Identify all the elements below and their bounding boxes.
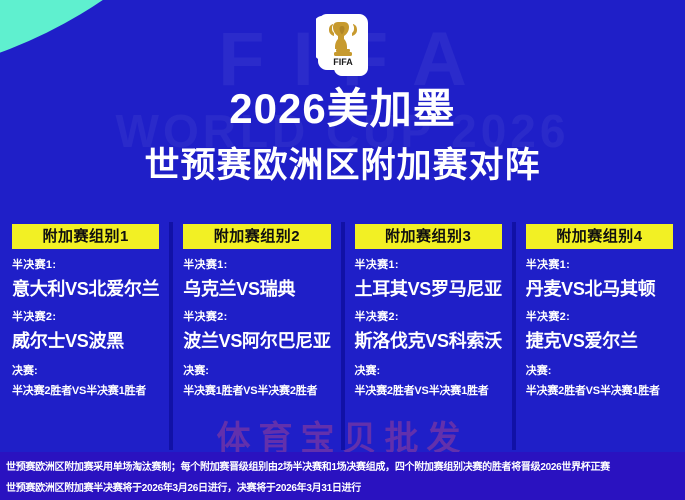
semifinal-1-teams: 乌克兰VS瑞典 bbox=[183, 277, 334, 301]
footer-note-line-2: 世预赛欧洲区附加赛半决赛将于2026年3月26日进行，决赛将于2026年3月31… bbox=[6, 478, 679, 499]
group-header: 附加赛组别4 bbox=[526, 224, 673, 249]
group-header: 附加赛组别2 bbox=[183, 224, 330, 249]
playoff-groups-grid: 附加赛组别1 半决赛1: 意大利VS北爱尔兰 半决赛2: 威尔士VS波黑 决赛:… bbox=[0, 222, 685, 450]
final-block: 决赛: 半决赛2胜者VS半决赛1胜者 bbox=[8, 364, 163, 399]
semifinal-1-teams: 土耳其VS罗马尼亚 bbox=[355, 277, 506, 301]
semifinal-1-block: 半决赛1: 乌克兰VS瑞典 bbox=[179, 258, 334, 301]
semifinal-1-block: 半决赛1: 意大利VS北爱尔兰 bbox=[8, 258, 163, 301]
semifinal-1-teams: 意大利VS北爱尔兰 bbox=[12, 277, 163, 301]
page-title: 2026美加墨 bbox=[0, 85, 685, 133]
final-block: 决赛: 半决赛1胜者VS半决赛2胜者 bbox=[179, 364, 334, 399]
semifinal-1-block: 半决赛1: 丹麦VS北马其顿 bbox=[522, 258, 677, 301]
semifinal-2-block: 半决赛2: 斯洛伐克VS科索沃 bbox=[351, 310, 506, 353]
page-subtitle: 世预赛欧洲区附加赛对阵 bbox=[0, 145, 685, 187]
semifinal-2-label: 半决赛2: bbox=[526, 310, 677, 324]
semifinal-2-teams: 波兰VS阿尔巴尼亚 bbox=[183, 329, 334, 353]
semifinal-2-block: 半决赛2: 威尔士VS波黑 bbox=[8, 310, 163, 353]
group-column-1: 附加赛组别1 半决赛1: 意大利VS北爱尔兰 半决赛2: 威尔士VS波黑 决赛:… bbox=[0, 222, 171, 450]
final-description: 半决赛2胜者VS半决赛1胜者 bbox=[526, 384, 677, 399]
semifinal-1-label: 半决赛1: bbox=[12, 258, 163, 272]
final-label: 决赛: bbox=[355, 364, 506, 378]
semifinal-2-label: 半决赛2: bbox=[12, 310, 163, 324]
semifinal-2-block: 半决赛2: 捷克VS爱尔兰 bbox=[522, 310, 677, 353]
semifinal-2-teams: 捷克VS爱尔兰 bbox=[526, 329, 677, 353]
poster-root: FIFA WORLD CUP 2026 FIFA 2026美加墨 世预赛欧洲区附… bbox=[0, 0, 685, 500]
final-description: 半决赛1胜者VS半决赛2胜者 bbox=[183, 384, 334, 399]
final-label: 决赛: bbox=[183, 364, 334, 378]
group-column-4: 附加赛组别4 半决赛1: 丹麦VS北马其顿 半决赛2: 捷克VS爱尔兰 决赛: … bbox=[514, 222, 685, 450]
semifinal-1-label: 半决赛1: bbox=[183, 258, 334, 272]
fifa-world-cup-2026-logo: FIFA bbox=[316, 10, 370, 76]
final-label: 决赛: bbox=[12, 364, 163, 378]
semifinal-1-label: 半决赛1: bbox=[355, 258, 506, 272]
semifinal-2-label: 半决赛2: bbox=[183, 310, 334, 324]
semifinal-1-label: 半决赛1: bbox=[526, 258, 677, 272]
semifinal-2-label: 半决赛2: bbox=[355, 310, 506, 324]
footer-notes: 世预赛欧洲区附加赛采用单场淘汰赛制；每个附加赛晋级组别由2场半决赛和1场决赛组成… bbox=[0, 452, 685, 500]
semifinal-2-teams: 威尔士VS波黑 bbox=[12, 329, 163, 353]
group-header: 附加赛组别3 bbox=[355, 224, 502, 249]
final-description: 半决赛2胜者VS半决赛1胜者 bbox=[12, 384, 163, 399]
final-description: 半决赛2胜者VS半决赛1胜者 bbox=[355, 384, 506, 399]
semifinal-1-block: 半决赛1: 土耳其VS罗马尼亚 bbox=[351, 258, 506, 301]
group-column-3: 附加赛组别3 半决赛1: 土耳其VS罗马尼亚 半决赛2: 斯洛伐克VS科索沃 决… bbox=[343, 222, 514, 450]
logo-fifa-caption: FIFA bbox=[333, 57, 353, 67]
semifinal-2-block: 半决赛2: 波兰VS阿尔巴尼亚 bbox=[179, 310, 334, 353]
group-header: 附加赛组别1 bbox=[12, 224, 159, 249]
final-block: 决赛: 半决赛2胜者VS半决赛1胜者 bbox=[351, 364, 506, 399]
semifinal-1-teams: 丹麦VS北马其顿 bbox=[526, 277, 677, 301]
final-block: 决赛: 半决赛2胜者VS半决赛1胜者 bbox=[522, 364, 677, 399]
footer-note-line-1: 世预赛欧洲区附加赛采用单场淘汰赛制；每个附加赛晋级组别由2场半决赛和1场决赛组成… bbox=[6, 457, 679, 478]
semifinal-2-teams: 斯洛伐克VS科索沃 bbox=[355, 329, 506, 353]
final-label: 决赛: bbox=[526, 364, 677, 378]
group-column-2: 附加赛组别2 半决赛1: 乌克兰VS瑞典 半决赛2: 波兰VS阿尔巴尼亚 决赛:… bbox=[171, 222, 342, 450]
corner-swoosh-decoration bbox=[0, 0, 271, 84]
